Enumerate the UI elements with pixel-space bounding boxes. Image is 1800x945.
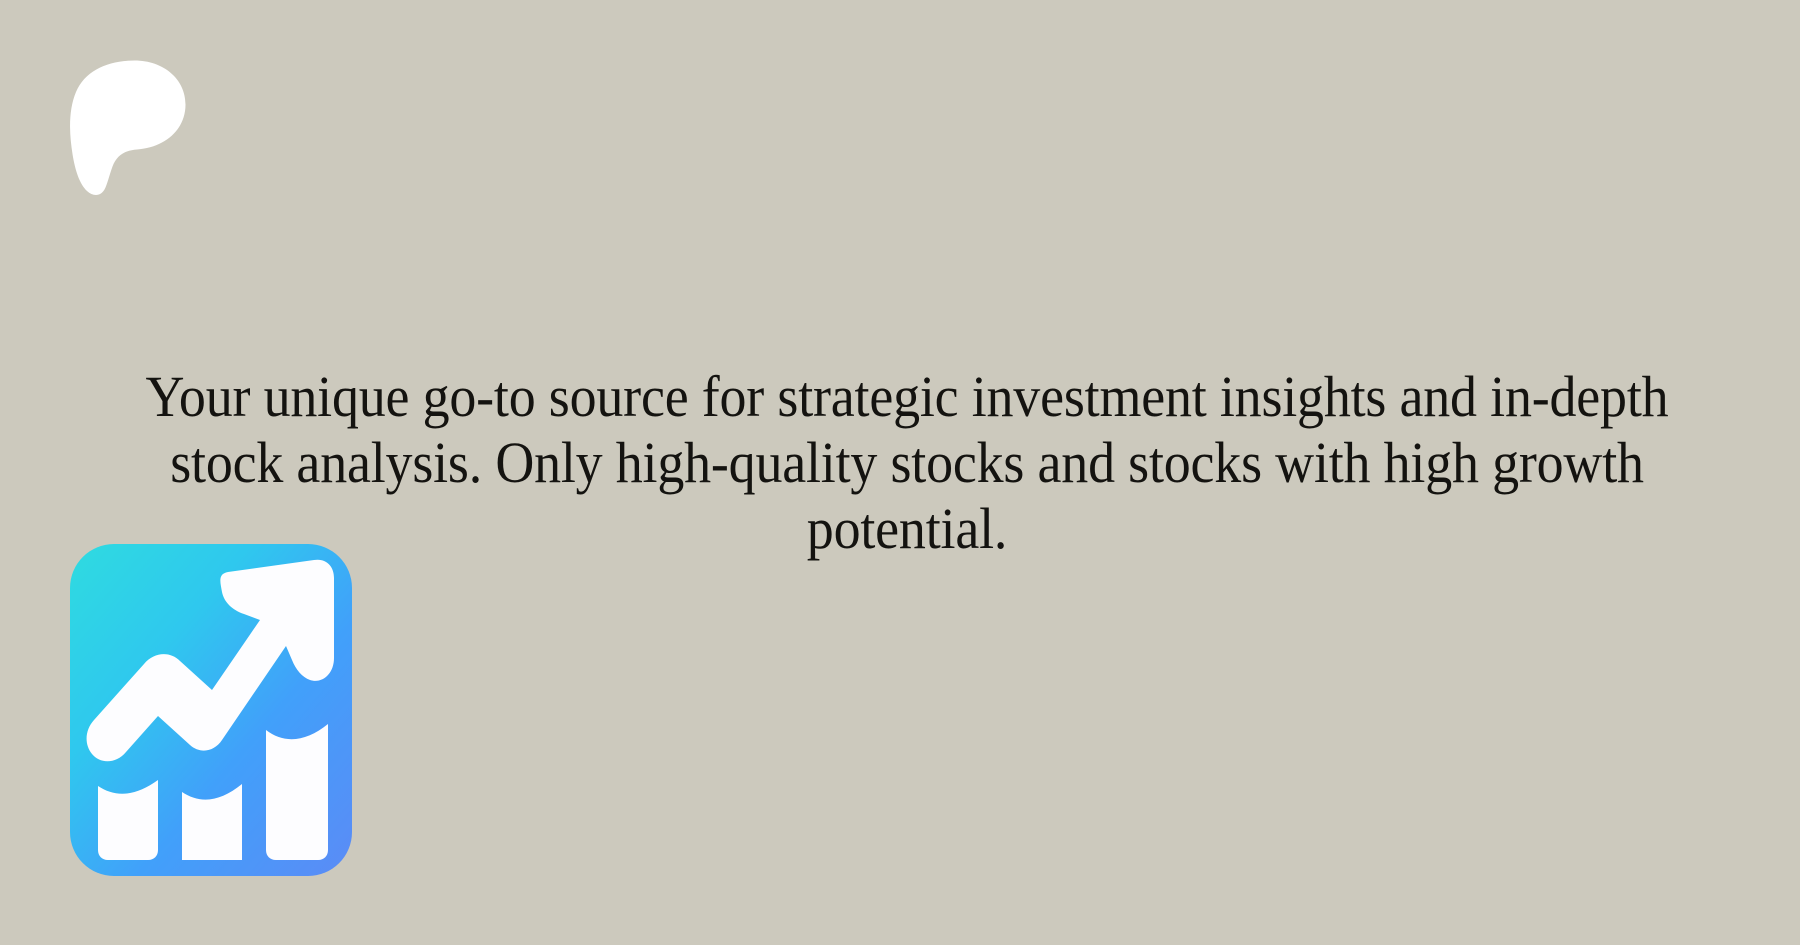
page-root: Your unique go-to source for strategic i… [0,0,1800,945]
stock-growth-chart-glyph [70,544,352,876]
bar-3 [266,724,328,860]
tagline-text: Your unique go-to source for strategic i… [88,364,1727,562]
stock-growth-chart-icon[interactable] [70,544,352,876]
patreon-logo[interactable] [64,56,188,198]
patreon-logo-glyph [64,56,188,198]
